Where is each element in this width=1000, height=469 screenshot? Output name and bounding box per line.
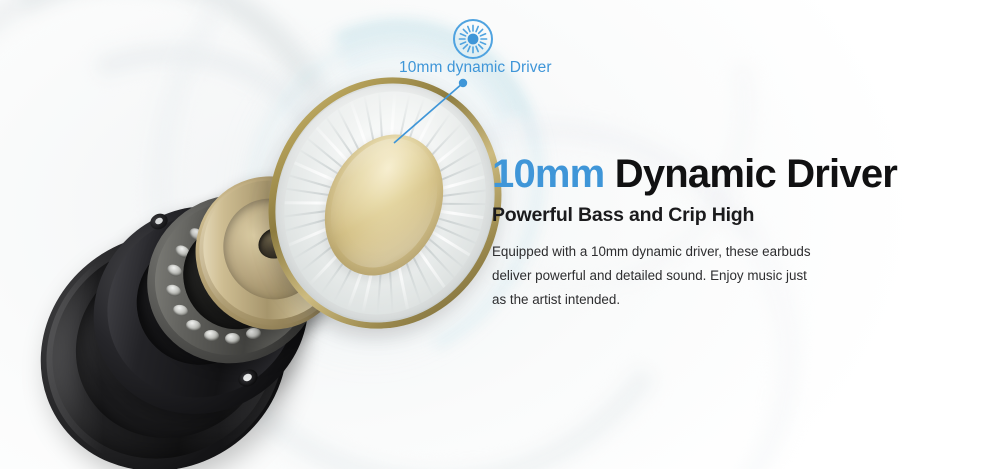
body-paragraph: Equipped with a 10mm dynamic driver, the… [492,240,812,312]
perforation-hole [225,333,240,344]
page-title: 10mm Dynamic Driver [492,152,912,197]
headline-accent: 10mm [492,152,604,196]
feature-text-block: 10mm Dynamic Driver Powerful Bass and Cr… [492,152,912,311]
subheading: Powerful Bass and Crip High [492,204,912,227]
dynamic-driver-sun-icon [452,18,494,60]
headline-rest: Dynamic Driver [604,152,897,196]
product-feature-banner: 10mm dynamic Driver 10mm Dynamic Driver … [0,0,1000,469]
callout-label: 10mm dynamic Driver [399,59,552,77]
